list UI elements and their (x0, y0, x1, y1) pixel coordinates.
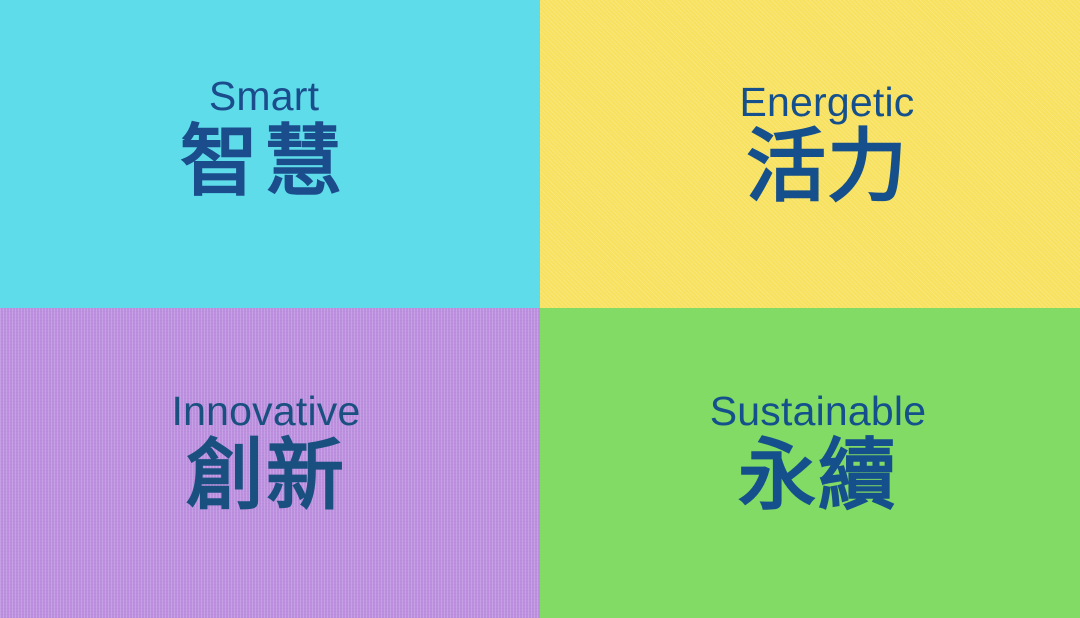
label-chinese-smart: 智慧 (180, 123, 348, 201)
label-english-sustainable: Sustainable (710, 391, 926, 432)
quadrant-sustainable: Sustainable 永續 (540, 308, 1080, 618)
label-english-energetic: Energetic (739, 82, 914, 123)
label-stack-innovative: Innovative 創新 (172, 391, 361, 515)
quadrant-smart: Smart 智慧 (0, 0, 540, 308)
brand-values-poster: Smart 智慧 Energetic 活力 Innovative 創新 Sust… (0, 0, 1080, 618)
quadrant-innovative: Innovative 創新 (0, 308, 540, 618)
label-stack-sustainable: Sustainable 永續 (710, 391, 926, 515)
label-english-smart: Smart (209, 76, 319, 117)
label-stack-smart: Smart 智慧 (180, 76, 348, 201)
label-chinese-innovative: 創新 (186, 437, 346, 515)
label-english-innovative: Innovative (172, 391, 361, 432)
quadrant-energetic: Energetic 活力 (540, 0, 1080, 308)
label-stack-energetic: Energetic 活力 (739, 82, 914, 207)
label-chinese-energetic: 活力 (746, 127, 908, 207)
label-chinese-sustainable: 永續 (738, 437, 898, 515)
